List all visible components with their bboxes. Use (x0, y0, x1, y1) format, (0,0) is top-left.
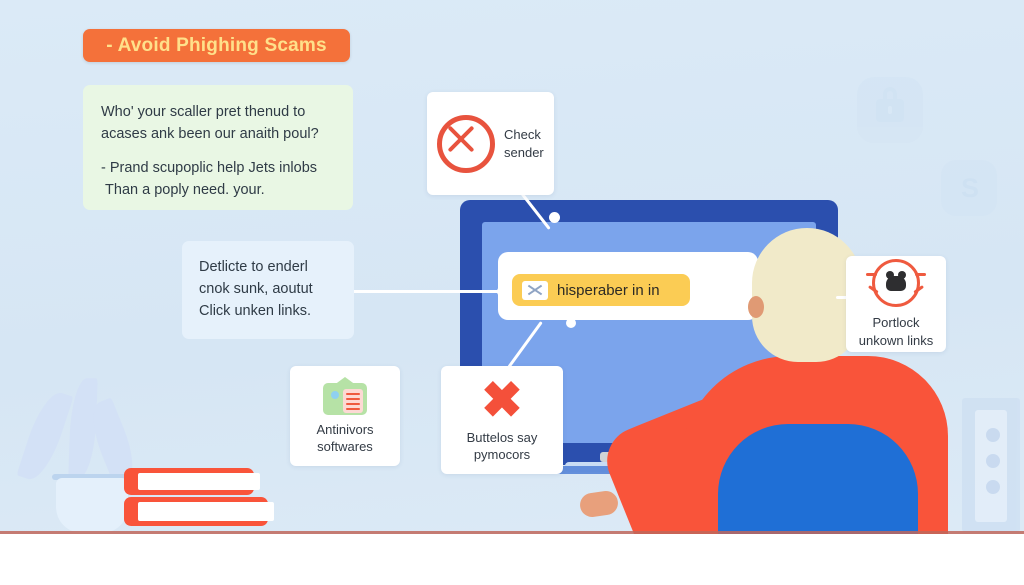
card-check-sender-label: Check sender (504, 126, 544, 160)
callout-box-left: Detlicte to enderl cnok sunk, aoutut Cli… (182, 241, 354, 339)
note-line-3: - Prand scupoplic help Jets inlobs (101, 160, 317, 176)
connector-line-left (352, 290, 504, 293)
padlock-watermark-icon (857, 77, 923, 143)
floor (0, 534, 1024, 585)
title-banner-text: - Avoid Phighing Scams (106, 35, 326, 57)
connector-dot-left (497, 286, 508, 297)
card-antivirus-label-1: Antinivors (316, 422, 373, 437)
card-portlock-label-2: unkown links (859, 333, 933, 348)
person-ear (748, 296, 764, 318)
card-buttons-label-1: Buttelos say (467, 430, 538, 445)
card-portlock-label-1: Portlock (873, 315, 920, 330)
envelope-x-icon (522, 281, 548, 300)
side-cabinet (962, 398, 1020, 532)
note-line-4: Than a poply need. your. (105, 182, 265, 198)
card-buttons-label-2: pymocors (474, 447, 530, 462)
note-box: Who' your scaller pret thenud to acases … (83, 85, 353, 210)
big-x-icon: ✖ (481, 377, 523, 425)
note-line-2: acases ank been our anaith poul? (101, 126, 319, 142)
connector-arrow-top-head (549, 212, 560, 223)
book-top (124, 468, 254, 495)
title-banner: - Avoid Phighing Scams (83, 29, 350, 62)
card-buttons-warning[interactable]: ✖ Buttelos say pymocors (441, 366, 563, 474)
note-line-1: Who' your scaller pret thenud to (101, 104, 305, 120)
email-subject-text: hisperaber in in (557, 282, 660, 299)
circle-x-icon (437, 115, 495, 173)
callout-line-2: cnok sunk, aoutut (199, 281, 313, 297)
card-portlock-links[interactable]: Portlock unkown links (846, 256, 946, 352)
infographic-scene: S hisperaber in in - Avoid Phighing Scam… (0, 0, 1024, 585)
card-antivirus-software[interactable]: Antinivors softwares (290, 366, 400, 466)
card-antivirus-label-2: softwares (317, 439, 373, 454)
connector-arrow-bottom-head (566, 318, 576, 328)
bug-virus-icon (872, 259, 920, 307)
callout-line-3: Click unken links. (199, 303, 311, 319)
book-bottom (124, 497, 268, 526)
card-check-sender[interactable]: Check sender (427, 92, 554, 195)
shield-house-document-icon (323, 377, 367, 415)
shield-watermark-icon: S (941, 160, 997, 216)
phishing-email-row[interactable]: hisperaber in in (512, 274, 690, 306)
callout-line-1: Detlicte to enderl (199, 259, 308, 275)
